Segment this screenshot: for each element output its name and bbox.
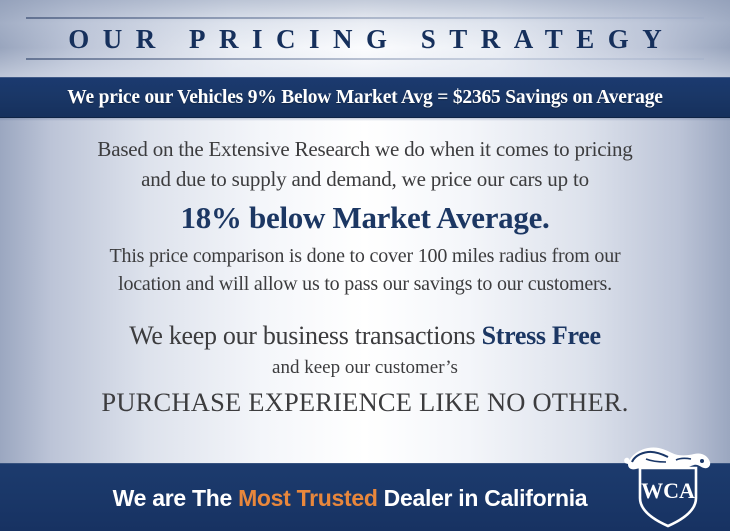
- paragraph-1-line-2: and due to supply and demand, we price o…: [0, 164, 730, 194]
- footer-text: We are The Most Trusted Dealer in Califo…: [0, 485, 700, 512]
- highlight-bar: We price our Vehicles 9% Below Market Av…: [0, 77, 730, 118]
- pricing-strategy-banner: OUR PRICING STRATEGY We price our Vehicl…: [0, 0, 730, 531]
- body-spacer: [0, 298, 730, 318]
- logo-monogram: WCA: [641, 478, 695, 503]
- footer-text-highlight: Most Trusted: [238, 485, 378, 511]
- big-highlight-text: 18% below Market Average.: [0, 194, 730, 242]
- purchase-experience-line: PURCHASE EXPERIENCE LIKE NO OTHER.: [0, 382, 730, 422]
- stress-free-prefix: We keep our business transactions: [129, 321, 481, 350]
- highlight-bar-text: We price our Vehicles 9% Below Market Av…: [67, 87, 662, 109]
- keep-customer-line: and keep our customer’s: [0, 354, 730, 382]
- panther-icon: [624, 447, 710, 469]
- footer-text-suffix: Dealer in California: [378, 485, 588, 511]
- footer-text-prefix: We are The: [113, 485, 238, 511]
- title-zone: OUR PRICING STRATEGY: [0, 0, 730, 77]
- body-content: Based on the Extensive Research we do wh…: [0, 134, 730, 422]
- stress-free-line: We keep our business transactions Stress…: [0, 318, 730, 354]
- paragraph-1-line-1: Based on the Extensive Research we do wh…: [0, 134, 730, 164]
- page-title: OUR PRICING STRATEGY: [0, 21, 730, 57]
- title-rule-bottom: [26, 58, 704, 60]
- paragraph-2-line-1: This price comparison is done to cover 1…: [0, 242, 730, 270]
- panther-shield-logo: WCA: [618, 436, 718, 531]
- title-rule-top: [26, 17, 704, 19]
- paragraph-2-line-2: location and will allow us to pass our s…: [0, 270, 730, 298]
- body-zone: Based on the Extensive Research we do wh…: [0, 118, 730, 463]
- stress-free-highlight: Stress Free: [482, 321, 601, 350]
